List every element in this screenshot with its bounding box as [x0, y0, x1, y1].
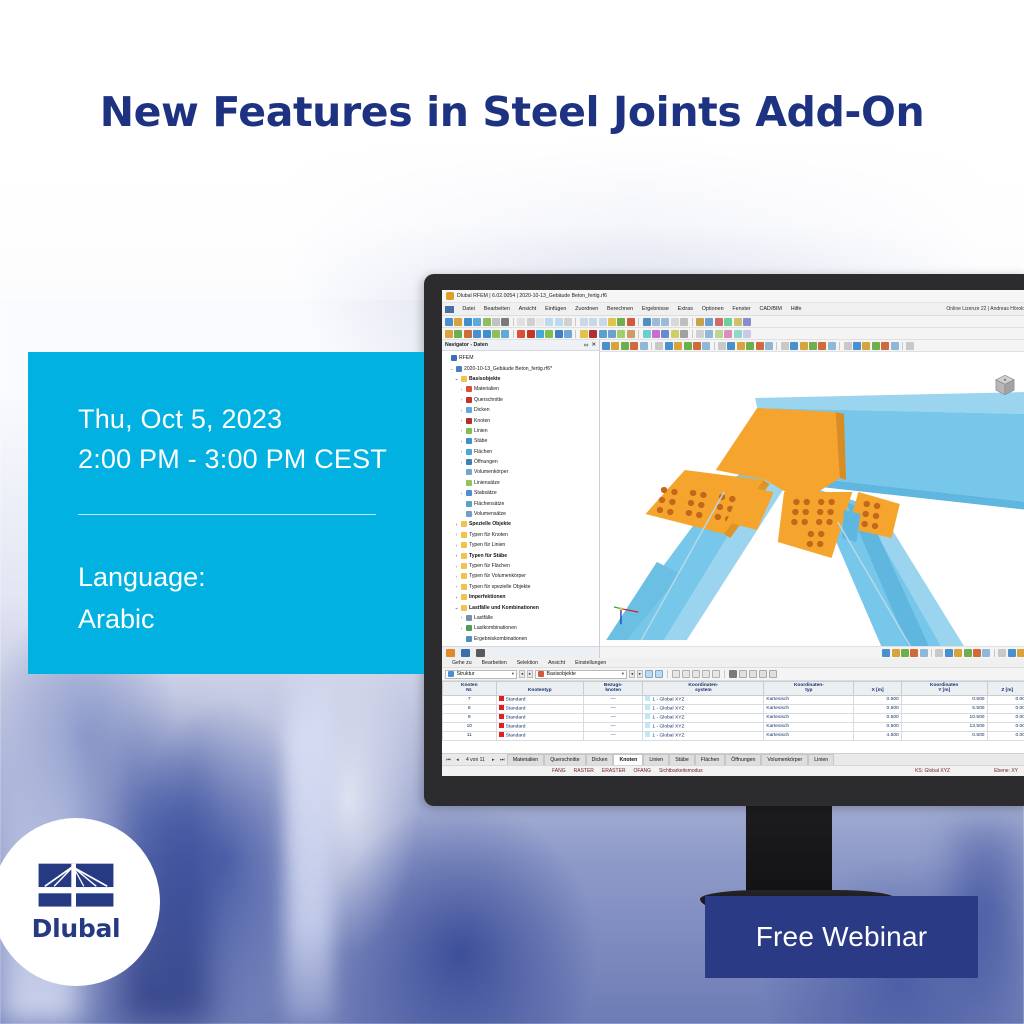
- viewport-tool-icon[interactable]: [998, 649, 1006, 657]
- table-row[interactable]: 7Standard—1 - Global XYZKartesisch0.5000…: [443, 695, 1024, 704]
- toolbar-button-icon[interactable]: [608, 318, 616, 326]
- chevron-right-icon[interactable]: ›: [454, 553, 459, 558]
- tree-item[interactable]: ›Querschnitte: [444, 395, 599, 405]
- status-bar: FANG RASTER ERASTER OFANG Sichtbarkeitsm…: [442, 765, 1024, 776]
- viewport-tool-icon[interactable]: [935, 649, 943, 657]
- cell-coordinate-system[interactable]: 1 - Global XYZ: [643, 704, 764, 713]
- tree-item[interactable]: ⌄Lastfälle und Kombinationen: [444, 602, 599, 612]
- viewport-tool-icon[interactable]: [828, 342, 836, 350]
- table-menu-einstellungen[interactable]: Einstellungen: [570, 660, 611, 666]
- chevron-right-icon[interactable]: ›: [459, 397, 464, 402]
- table-menu-ansicht[interactable]: Ansicht: [543, 660, 570, 666]
- status-raster[interactable]: RASTER: [574, 768, 594, 774]
- toolbar-separator: [714, 342, 715, 350]
- table-export-icon[interactable]: [712, 670, 720, 678]
- cell-reference-node[interactable]: —: [583, 695, 642, 704]
- toolbar-button-icon[interactable]: [483, 330, 491, 338]
- cell-coordinate-system[interactable]: 1 - Global XYZ: [643, 713, 764, 722]
- table-tab-materialien[interactable]: Materialien: [507, 754, 544, 765]
- cell-node-nr[interactable]: 10: [443, 722, 497, 731]
- navigator-tab-display-icon[interactable]: [461, 649, 470, 657]
- viewport-tool-icon[interactable]: [718, 342, 726, 350]
- viewport-tool-icon[interactable]: [737, 342, 745, 350]
- viewport-tool-icon[interactable]: [872, 342, 880, 350]
- cell-z[interactable]: 0.00: [987, 704, 1024, 713]
- cell-node-type[interactable]: Standard: [496, 695, 583, 704]
- toolbar-button-icon[interactable]: [671, 330, 679, 338]
- viewport-tool-icon[interactable]: [640, 342, 648, 350]
- free-webinar-button[interactable]: Free Webinar: [705, 896, 978, 978]
- table-tab-volumenk-rper[interactable]: Volumenkörper: [761, 754, 808, 765]
- tree-item[interactable]: ›Typen für Flächen: [444, 561, 599, 571]
- toolbar-button-icon[interactable]: [589, 318, 597, 326]
- toolbar-button-icon[interactable]: [715, 330, 723, 338]
- viewport-tool-icon[interactable]: [973, 649, 981, 657]
- viewport-tool-icon[interactable]: [853, 342, 861, 350]
- cell-reference-node[interactable]: —: [583, 713, 642, 722]
- viewport-tool-icon[interactable]: [684, 342, 692, 350]
- viewport-tool-icon[interactable]: [954, 649, 962, 657]
- cell-coordinate-type[interactable]: Kartesisch: [764, 713, 854, 722]
- main-toolbar-row-2[interactable]: [442, 328, 1024, 340]
- chevron-down-icon[interactable]: ⌄: [449, 366, 454, 372]
- pin-icon[interactable]: ⚏: [584, 342, 589, 348]
- table-row[interactable]: 10Standard—1 - Global XYZKartesisch0.500…: [443, 722, 1024, 731]
- viewport-tool-icon[interactable]: [611, 342, 619, 350]
- navigator-tab-data-icon[interactable]: [446, 649, 455, 657]
- model-viewport[interactable]: [600, 340, 1024, 658]
- viewport-tool-icon[interactable]: [809, 342, 817, 350]
- viewport-toolbar-top[interactable]: [600, 340, 1024, 352]
- viewport-tool-icon[interactable]: [790, 342, 798, 350]
- status-ofang[interactable]: OFANG: [634, 768, 652, 774]
- tree-item[interactable]: ›Imperfektionen: [444, 592, 599, 602]
- column-header-bottom: knoten: [585, 688, 641, 693]
- menu-item-optionen[interactable]: Optionen: [697, 306, 728, 312]
- table-row[interactable]: 8Standard—1 - Global XYZKartesisch0.5005…: [443, 704, 1024, 713]
- chevron-right-icon[interactable]: ›: [454, 543, 459, 548]
- menu-item-zuordnen[interactable]: Zuordnen: [571, 306, 603, 312]
- cell-cs-text: 1 - Global XYZ: [652, 707, 684, 712]
- viewport-tool-icon[interactable]: [602, 342, 610, 350]
- table-tab-querschnitte[interactable]: Querschnitte: [544, 754, 585, 765]
- cell-node-type[interactable]: Standard: [496, 722, 583, 731]
- last-page-button[interactable]: ⏭: [498, 754, 507, 765]
- toolbar-button-icon[interactable]: [661, 330, 669, 338]
- table-panel: Gehe zu Bearbeiten Selektion Ansicht Ein…: [442, 658, 1024, 776]
- toolbar-button-icon[interactable]: [501, 330, 509, 338]
- tree-item[interactable]: ›Lastkombinationen: [444, 623, 599, 633]
- menu-item-berechnen[interactable]: Berechnen: [603, 306, 638, 312]
- close-icon[interactable]: ✕: [591, 342, 596, 348]
- cell-x[interactable]: 0.500: [854, 722, 901, 731]
- viewport-tool-icon[interactable]: [756, 342, 764, 350]
- table-row[interactable]: 9Standard—1 - Global XYZKartesisch0.5001…: [443, 713, 1024, 722]
- toolbar-separator: [638, 330, 639, 338]
- cell-x[interactable]: 0.500: [854, 695, 901, 704]
- tree-item[interactable]: RFEM: [444, 353, 599, 363]
- cell-coordinate-type[interactable]: Kartesisch: [764, 695, 854, 704]
- toolbar-button-icon[interactable]: [580, 318, 588, 326]
- node-table-body[interactable]: 7Standard—1 - Global XYZKartesisch0.5000…: [443, 695, 1024, 740]
- navigator-header-buttons[interactable]: ⚏ ✕: [584, 342, 596, 348]
- table-tab--ffnungen[interactable]: Öffnungen: [725, 754, 761, 765]
- tree-item[interactable]: ›Typen für Linien: [444, 540, 599, 550]
- chevron-right-icon[interactable]: ›: [454, 532, 459, 537]
- chevron-right-icon[interactable]: ›: [459, 387, 464, 392]
- table-row[interactable]: 11Standard—1 - Global XYZKartesisch4.500…: [443, 731, 1024, 740]
- dlubal-wordmark: Dlubal: [32, 914, 121, 943]
- toolbar-button-icon[interactable]: [464, 318, 472, 326]
- column-header[interactable]: KnotenNr.: [443, 682, 497, 696]
- chevron-right-icon[interactable]: ›: [454, 564, 459, 569]
- table-print-icon[interactable]: [692, 670, 700, 678]
- viewport-tool-icon[interactable]: [891, 342, 899, 350]
- cell-z[interactable]: 0.00: [987, 722, 1024, 731]
- toolbar-button-icon[interactable]: [652, 318, 660, 326]
- table-columns-icon[interactable]: [682, 670, 690, 678]
- cell-coordinate-type[interactable]: Kartesisch: [764, 722, 854, 731]
- toolbar-button-icon[interactable]: [680, 318, 688, 326]
- chevron-down-icon[interactable]: ⌄: [454, 376, 459, 382]
- viewport-tool-icon[interactable]: [862, 342, 870, 350]
- node-table[interactable]: KnotenNr. KnotentypBezugs-knotenKoordina…: [442, 681, 1024, 741]
- toolbar-button-icon[interactable]: [617, 318, 625, 326]
- toolbar-button-icon[interactable]: [492, 330, 500, 338]
- toolbar-button-icon[interactable]: [492, 318, 500, 326]
- toolbar-button-icon[interactable]: [705, 330, 713, 338]
- toolbar-button-icon[interactable]: [473, 318, 481, 326]
- menu-item-bearbeiten[interactable]: Bearbeiten: [479, 306, 514, 312]
- toolbar-button-icon[interactable]: [652, 330, 660, 338]
- viewport-tool-icon[interactable]: [693, 342, 701, 350]
- viewport-toolbar-bottom[interactable]: [600, 646, 1024, 658]
- menu-item-ansicht[interactable]: Ansicht: [514, 306, 540, 312]
- viewport-tool-icon[interactable]: [702, 342, 710, 350]
- toolbar-button-icon[interactable]: [473, 330, 481, 338]
- viewport-tool-icon[interactable]: [746, 342, 754, 350]
- toolbar-button-icon[interactable]: [671, 318, 679, 326]
- tree-item-icon: [466, 459, 472, 465]
- table-tab-bar[interactable]: ⏮ ◂ 4 von 11 ▸ ⏭ MaterialienQuerschnitte…: [442, 753, 1024, 765]
- toolbar-button-icon[interactable]: [627, 330, 635, 338]
- cell-x[interactable]: 0.500: [854, 713, 901, 722]
- cell-z[interactable]: 0.00: [987, 695, 1024, 704]
- chevron-right-icon[interactable]: ›: [459, 418, 464, 423]
- table-tab-dicken[interactable]: Dicken: [586, 754, 614, 765]
- cell-coordinate-system[interactable]: 1 - Global XYZ: [643, 695, 764, 704]
- chevron-down-icon[interactable]: ⌄: [454, 605, 459, 611]
- toolbar-button-icon[interactable]: [580, 330, 588, 338]
- tree-item[interactable]: ›Typen für Stäbe: [444, 550, 599, 560]
- cell-node-type[interactable]: Standard: [496, 704, 583, 713]
- viewport-tool-icon[interactable]: [1017, 649, 1024, 657]
- tree-item[interactable]: Volumenkörper: [444, 467, 599, 477]
- chevron-right-icon[interactable]: ›: [459, 449, 464, 454]
- cell-y[interactable]: 0.500: [901, 695, 987, 704]
- cell-node-nr[interactable]: 11: [443, 731, 497, 740]
- toolbar-button-icon[interactable]: [724, 330, 732, 338]
- node-table-wrapper[interactable]: KnotenNr. KnotentypBezugs-knotenKoordina…: [442, 681, 1024, 753]
- table-tab-st-be[interactable]: Stäbe: [669, 754, 695, 765]
- view-cube-icon[interactable]: [992, 372, 1018, 398]
- chevron-right-icon[interactable]: ›: [454, 522, 459, 527]
- toolbar-button-icon[interactable]: [564, 330, 572, 338]
- viewport-tool-icon[interactable]: [655, 342, 663, 350]
- prev-page-button[interactable]: ◂: [453, 754, 462, 765]
- toolbar-button-icon[interactable]: [454, 318, 462, 326]
- cell-node-nr[interactable]: 9: [443, 713, 497, 722]
- toolbar-button-icon[interactable]: [643, 330, 651, 338]
- toolbar-button-icon[interactable]: [464, 330, 472, 338]
- cell-z[interactable]: 0.00: [987, 713, 1024, 722]
- tree-item[interactable]: ›Öffnungen: [444, 457, 599, 467]
- viewport-tool-icon[interactable]: [881, 342, 889, 350]
- menu-item-extras[interactable]: Extras: [673, 306, 697, 312]
- chevron-right-icon[interactable]: ›: [459, 615, 464, 620]
- table-menu-selektion[interactable]: Selektion: [512, 660, 543, 666]
- chevron-right-icon[interactable]: ›: [454, 584, 459, 589]
- toolbar-separator: [651, 342, 652, 350]
- tree-item[interactable]: ›Spezielle Objekte: [444, 519, 599, 529]
- viewport-tool-icon[interactable]: [818, 342, 826, 350]
- viewport-tool-icon[interactable]: [901, 649, 909, 657]
- viewport-tool-icon[interactable]: [665, 342, 673, 350]
- viewport-tool-icon[interactable]: [910, 649, 918, 657]
- cut-row-icon[interactable]: [749, 670, 757, 678]
- toolbar-button-icon[interactable]: [527, 318, 535, 326]
- toolbar-button-icon[interactable]: [680, 330, 688, 338]
- toolbar-button-icon[interactable]: [599, 318, 607, 326]
- viewport-tool-icon[interactable]: [964, 649, 972, 657]
- cell-y[interactable]: 5.500: [901, 704, 987, 713]
- tree-item[interactable]: ›Knoten: [444, 415, 599, 425]
- viewport-canvas[interactable]: [600, 352, 1024, 646]
- cell-reference-node[interactable]: —: [583, 722, 642, 731]
- menu-item-cad-bim[interactable]: CAD/BIM: [755, 306, 786, 312]
- tree-item-icon: [461, 521, 467, 527]
- object-group-select[interactable]: Basisobjekte ▾: [535, 670, 627, 679]
- cell-coordinate-type[interactable]: Kartesisch: [764, 704, 854, 713]
- column-header[interactable]: Z [m]: [987, 682, 1024, 696]
- viewport-tool-icon[interactable]: [920, 649, 928, 657]
- table-panel-menu-bar[interactable]: Gehe zu Bearbeiten Selektion Ansicht Ein…: [442, 658, 1024, 668]
- viewport-tool-icon[interactable]: [906, 342, 914, 350]
- cell-node-nr[interactable]: 7: [443, 695, 497, 704]
- filter-icon[interactable]: [655, 670, 663, 678]
- column-header[interactable]: Koordinaten-system: [643, 682, 764, 696]
- toolbar-button-icon[interactable]: [617, 330, 625, 338]
- tree-item[interactable]: ›Linien: [444, 426, 599, 436]
- toolbar-button-icon[interactable]: [483, 318, 491, 326]
- insert-row-icon[interactable]: [759, 670, 767, 678]
- append-row-icon[interactable]: [769, 670, 777, 678]
- viewport-tool-icon[interactable]: [800, 342, 808, 350]
- app-logo-icon: [446, 292, 454, 300]
- tree-item[interactable]: ›Flächen: [444, 447, 599, 457]
- chevron-right-icon[interactable]: ›: [459, 428, 464, 433]
- first-page-button[interactable]: ⏮: [444, 754, 453, 765]
- toolbar-button-icon[interactable]: [608, 330, 616, 338]
- table-tab-linien[interactable]: Linien: [643, 754, 669, 765]
- viewport-tool-icon[interactable]: [1008, 649, 1016, 657]
- cell-node-type[interactable]: Standard: [496, 713, 583, 722]
- tree-item[interactable]: ⌄Basisobjekte: [444, 374, 599, 384]
- table-menu-bearbeiten[interactable]: Bearbeiten: [477, 660, 512, 666]
- status-eraster[interactable]: ERASTER: [602, 768, 626, 774]
- tree-item[interactable]: ›Typen für Knoten: [444, 530, 599, 540]
- menu-item-fenster[interactable]: Fenster: [728, 306, 755, 312]
- tree-item-icon: [466, 469, 472, 475]
- status-fang[interactable]: FANG: [552, 768, 566, 774]
- cell-z[interactable]: 0.00: [987, 731, 1024, 740]
- prev-structure-button[interactable]: ◂: [519, 670, 525, 678]
- toolbar-button-icon[interactable]: [743, 318, 751, 326]
- navigator-tab-views-icon[interactable]: [476, 649, 485, 657]
- toolbar-button-icon[interactable]: [445, 330, 453, 338]
- toolbar-button-icon[interactable]: [705, 318, 713, 326]
- table-grid-icon[interactable]: [702, 670, 710, 678]
- navigator-tree[interactable]: RFEM⌄2020-10-13_Gebäude Beton_fertig.rf6…: [442, 351, 599, 646]
- toolbar-button-icon[interactable]: [661, 318, 669, 326]
- tree-item[interactable]: Ergebniskombinationen: [444, 634, 599, 644]
- table-tab-knoten[interactable]: Knoten: [613, 754, 643, 765]
- viewport-tool-icon[interactable]: [765, 342, 773, 350]
- toolbar-button-icon[interactable]: [743, 330, 751, 338]
- column-header[interactable]: KoordinatenY [m]: [901, 682, 987, 696]
- app-menu-bar[interactable]: Datei Bearbeiten Ansicht Einfügen Zuordn…: [442, 303, 1024, 316]
- table-tab-fl-chen[interactable]: Flächen: [695, 754, 725, 765]
- cell-coordinate-system[interactable]: 1 - Global XYZ: [643, 731, 764, 740]
- delete-row-icon[interactable]: [729, 670, 737, 678]
- toolbar-button-icon[interactable]: [545, 330, 553, 338]
- cell-x[interactable]: 4.500: [854, 731, 901, 740]
- chevron-right-icon[interactable]: ›: [459, 408, 464, 413]
- toolbar-button-icon[interactable]: [696, 330, 704, 338]
- tree-item[interactable]: ⌄2020-10-13_Gebäude Beton_fertig.rf6*: [444, 363, 599, 373]
- tree-item[interactable]: Volumensätze: [444, 509, 599, 519]
- copy-row-icon[interactable]: [739, 670, 747, 678]
- toolbar-button-icon[interactable]: [555, 318, 563, 326]
- toolbar-button-icon[interactable]: [627, 318, 635, 326]
- viewport-tool-icon[interactable]: [982, 649, 990, 657]
- main-toolbar-row-1[interactable]: [442, 316, 1024, 328]
- column-header[interactable]: Knotentyp: [496, 682, 583, 696]
- tree-item[interactable]: Flächensätze: [444, 498, 599, 508]
- cell-x[interactable]: 0.500: [854, 704, 901, 713]
- viewport-tool-icon[interactable]: [781, 342, 789, 350]
- viewport-tool-icon[interactable]: [621, 342, 629, 350]
- chevron-right-icon[interactable]: ›: [459, 626, 464, 631]
- menu-item-ergebnisse[interactable]: Ergebnisse: [637, 306, 673, 312]
- viewport-tool-icon[interactable]: [892, 649, 900, 657]
- navigator-tab-bar[interactable]: [442, 646, 599, 658]
- tree-item[interactable]: ›Typen für spezielle Objekte: [444, 582, 599, 592]
- next-structure-button[interactable]: ▸: [527, 670, 533, 678]
- cell-coordinate-system[interactable]: 1 - Global XYZ: [643, 722, 764, 731]
- toolbar-button-icon[interactable]: [517, 330, 525, 338]
- column-header[interactable]: Koordinaten-typ: [764, 682, 854, 696]
- tree-item[interactable]: ›Materialien: [444, 384, 599, 394]
- viewport-tool-icon[interactable]: [727, 342, 735, 350]
- cell-y[interactable]: 0.500: [901, 731, 987, 740]
- cell-y[interactable]: 10.500: [901, 713, 987, 722]
- menu-item-datei[interactable]: Datei: [458, 306, 479, 312]
- toolbar-button-icon[interactable]: [501, 318, 509, 326]
- chevron-right-icon[interactable]: ›: [459, 439, 464, 444]
- viewport-tool-icon[interactable]: [844, 342, 852, 350]
- viewport-tool-icon[interactable]: [945, 649, 953, 657]
- cell-reference-node[interactable]: —: [583, 704, 642, 713]
- toolbar-button-icon[interactable]: [545, 318, 553, 326]
- viewport-tool-icon[interactable]: [674, 342, 682, 350]
- chevron-right-icon[interactable]: ›: [454, 574, 459, 579]
- toolbar-button-icon[interactable]: [536, 330, 544, 338]
- tree-item[interactable]: Liniensätze: [444, 478, 599, 488]
- toolbar-button-icon[interactable]: [589, 330, 597, 338]
- toolbar-button-icon[interactable]: [599, 330, 607, 338]
- cs-color-swatch: [645, 732, 650, 737]
- toolbar-button-icon[interactable]: [715, 318, 723, 326]
- toolbar-button-icon[interactable]: [734, 330, 742, 338]
- toolbar-button-icon[interactable]: [564, 318, 572, 326]
- cell-node-nr[interactable]: 8: [443, 704, 497, 713]
- table-tab-linien[interactable]: Linien: [808, 754, 834, 765]
- toolbar-button-icon[interactable]: [536, 318, 544, 326]
- menu-item-einfuegen[interactable]: Einfügen: [541, 306, 571, 312]
- zoom-icon[interactable]: [645, 670, 653, 678]
- table-menu-gehe-zu[interactable]: Gehe zu: [447, 660, 477, 666]
- table-panel-toolbar[interactable]: Struktur ▾ ◂ ▸ Basisobjekte ▾ ◂ ▸: [442, 668, 1024, 681]
- viewport-tool-icon[interactable]: [882, 649, 890, 657]
- tree-item[interactable]: ›Stäbe: [444, 436, 599, 446]
- toolbar-button-icon[interactable]: [643, 318, 651, 326]
- toolbar-button-icon[interactable]: [555, 330, 563, 338]
- cell-reference-node[interactable]: —: [583, 731, 642, 740]
- toolbar-button-icon[interactable]: [724, 318, 732, 326]
- chevron-right-icon[interactable]: ›: [459, 491, 464, 496]
- status-sichtbarkeitsmodus[interactable]: Sichtbarkeitsmodus: [659, 768, 703, 774]
- navigator-header: Navigator - Daten ⚏ ✕: [442, 340, 599, 351]
- tree-item[interactable]: ›Stabsätze: [444, 488, 599, 498]
- tree-item[interactable]: ›Typen für Volumenkörper: [444, 571, 599, 581]
- viewport-tool-icon[interactable]: [630, 342, 638, 350]
- tree-item[interactable]: ›Dicken: [444, 405, 599, 415]
- tree-item[interactable]: ›Lastfälle: [444, 613, 599, 623]
- tree-item-label: 2020-10-13_Gebäude Beton_fertig.rf6*: [464, 366, 552, 372]
- structure-select[interactable]: Struktur ▾: [445, 670, 517, 679]
- next-object-button[interactable]: ▸: [637, 670, 643, 678]
- table-settings-icon[interactable]: [672, 670, 680, 678]
- next-page-button[interactable]: ▸: [489, 754, 498, 765]
- menu-item-hilfe[interactable]: Hilfe: [786, 306, 806, 312]
- column-header[interactable]: X [m]: [854, 682, 901, 696]
- toolbar-button-icon[interactable]: [445, 318, 453, 326]
- toolbar-button-icon[interactable]: [734, 318, 742, 326]
- column-header[interactable]: Bezugs-knoten: [583, 682, 642, 696]
- toolbar-button-icon[interactable]: [454, 330, 462, 338]
- toolbar-button-icon[interactable]: [696, 318, 704, 326]
- cell-coordinate-type[interactable]: Kartesisch: [764, 731, 854, 740]
- prev-object-button[interactable]: ◂: [629, 670, 635, 678]
- chevron-right-icon[interactable]: ›: [454, 595, 459, 600]
- chevron-right-icon[interactable]: ›: [459, 460, 464, 465]
- cell-node-type[interactable]: Standard: [496, 731, 583, 740]
- toolbar-button-icon[interactable]: [527, 330, 535, 338]
- node-type-color-swatch: [499, 714, 504, 719]
- cell-y[interactable]: 13.500: [901, 722, 987, 731]
- toolbar-button-icon[interactable]: [517, 318, 525, 326]
